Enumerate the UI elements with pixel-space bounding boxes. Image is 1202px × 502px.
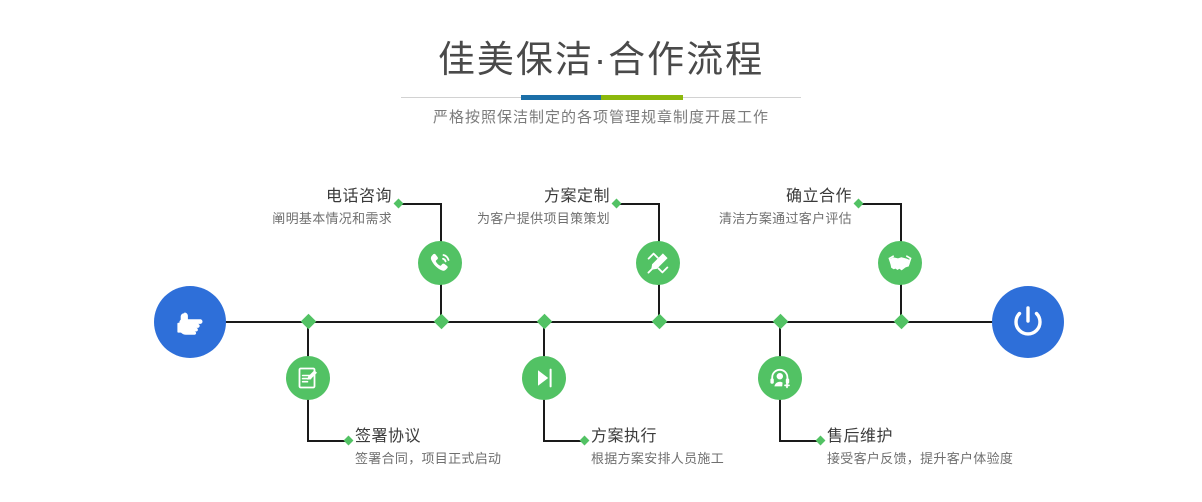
label-bullet-2 [344,436,354,446]
step-label-5: 确立合作 清洁方案通过客户评估 [610,186,852,230]
step-node-4[interactable] [522,356,566,400]
connector-leader-3 [618,203,659,205]
connector-leader-1 [400,203,441,205]
step-label-4: 方案执行 根据方案安排人员施工 [591,426,724,470]
axis-marker-2 [301,314,317,330]
connector-leader-4 [543,440,584,442]
connector-leader-6 [779,440,820,442]
pencil-ruler-icon [645,250,671,276]
step-title-1: 电话咨询 [150,186,392,208]
connector-leader-5 [860,203,901,205]
step-desc-2: 签署合同，项目正式启动 [355,448,501,470]
step-desc-5: 清洁方案通过客户评估 [610,208,852,230]
step-title-4: 方案执行 [591,426,724,448]
play-execute-icon [531,365,557,391]
power-icon [1007,301,1049,343]
pointing-hand-icon [170,302,210,342]
customer-service-icon [767,365,793,391]
step-desc-4: 根据方案安排人员施工 [591,448,724,470]
divider-segment-blue [521,95,601,100]
handshake-icon [887,250,913,276]
axis-marker-5 [894,314,910,330]
step-node-2[interactable] [286,356,330,400]
phone-call-icon [427,250,453,276]
step-desc-6: 接受客户反馈，提升客户体验度 [827,448,1013,470]
step-desc-3: 为客户提供项目策策划 [368,208,610,230]
step-node-6[interactable] [758,356,802,400]
document-edit-icon [295,365,321,391]
label-bullet-4 [580,436,590,446]
axis-marker-6 [773,314,789,330]
step-title-2: 签署协议 [355,426,501,448]
axis-marker-3 [652,314,668,330]
timeline-start-endpoint [154,286,226,358]
label-bullet-6 [816,436,826,446]
connector-leader-2 [307,440,348,442]
step-node-3[interactable] [636,241,680,285]
step-label-3: 方案定制 为客户提供项目策策划 [368,186,610,230]
step-node-5[interactable] [878,241,922,285]
step-node-1[interactable] [418,241,462,285]
axis-marker-4 [537,314,553,330]
axis-marker-1 [434,314,450,330]
step-desc-1: 阐明基本情况和需求 [150,208,392,230]
timeline-end-endpoint [992,286,1064,358]
step-label-6: 售后维护 接受客户反馈，提升客户体验度 [827,426,1013,470]
label-bullet-5 [854,199,864,209]
step-label-1: 电话咨询 阐明基本情况和需求 [150,186,392,230]
title-divider [401,95,801,101]
page-title: 佳美保洁·合作流程 [0,36,1202,84]
divider-segment-green [601,95,683,100]
page-subtitle: 严格按照保洁制定的各项管理规章制度开展工作 [0,106,1202,130]
step-title-6: 售后维护 [827,426,1013,448]
process-flow-infographic: 佳美保洁·合作流程 严格按照保洁制定的各项管理规章制度开展工作 [0,0,1202,502]
step-label-2: 签署协议 签署合同，项目正式启动 [355,426,501,470]
